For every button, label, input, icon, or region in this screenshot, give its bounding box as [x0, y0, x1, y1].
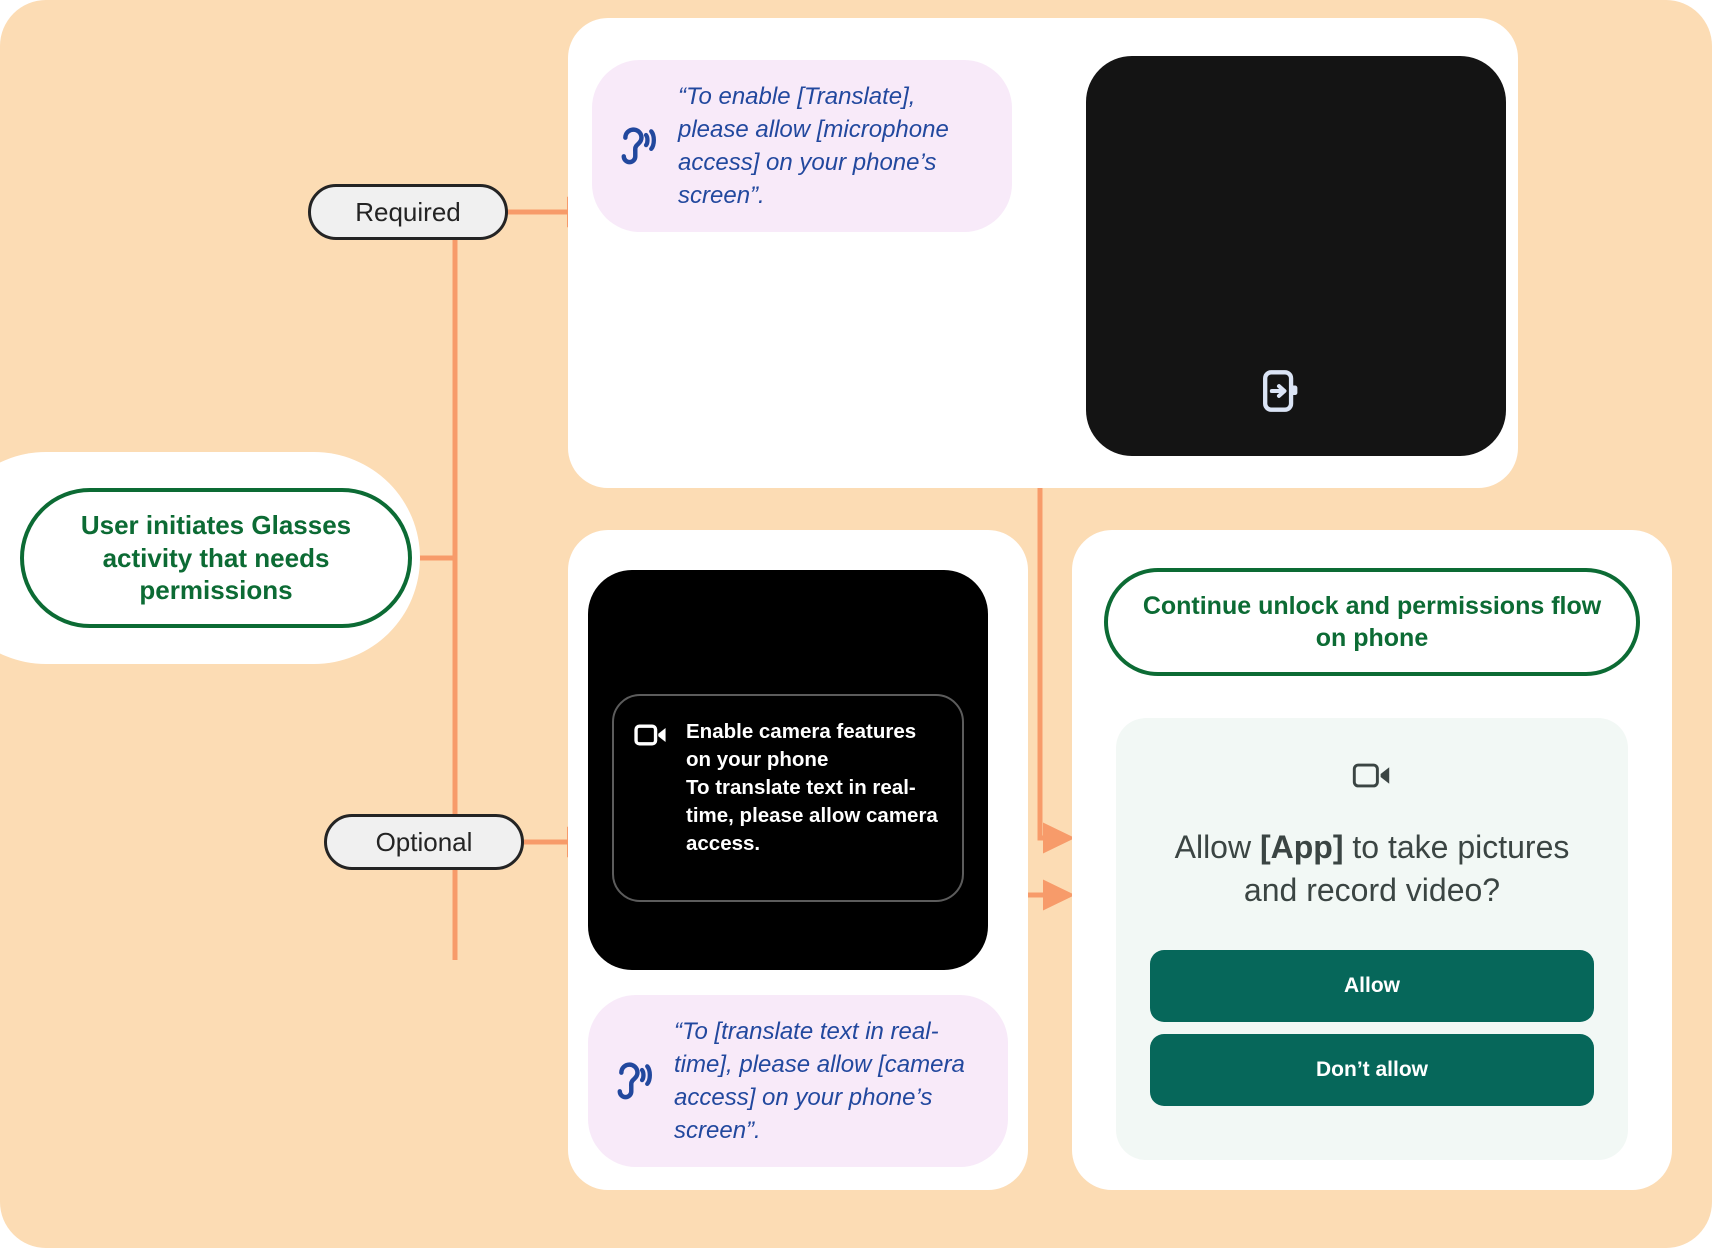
flow-diagram-canvas: User initiates Glasses activity that nee… — [0, 0, 1712, 1248]
glasses-permission-card: Enable camera features on your phone To … — [612, 694, 964, 902]
android-permission-dialog: Allow [App] to take pictures and record … — [1116, 718, 1628, 1160]
allow-button-label: Allow — [1344, 974, 1400, 998]
glasses-permission-subtitle: To translate text in real-time, please a… — [686, 774, 940, 858]
camera-prompt-text: “To [translate text in real-time], pleas… — [674, 1015, 1008, 1147]
camera-prompt-bubble: “To [translate text in real-time], pleas… — [588, 995, 1008, 1167]
ear-hearing-icon — [610, 120, 662, 172]
microphone-prompt-bubble: “To enable [Translate], please allow [mi… — [592, 60, 1012, 232]
ear-hearing-icon — [606, 1055, 658, 1107]
permission-dialog-title: Allow [App] to take pictures and record … — [1150, 826, 1594, 912]
branch-pill-required-label: Required — [355, 197, 461, 228]
branch-pill-optional-label: Optional — [376, 827, 473, 858]
continue-flow-node[interactable]: Continue unlock and permissions flow on … — [1104, 568, 1640, 676]
video-camera-icon — [634, 722, 668, 756]
continue-flow-node-label: Continue unlock and permissions flow on … — [1134, 590, 1610, 654]
start-node-label: User initiates Glasses activity that nee… — [50, 509, 382, 607]
dont-allow-button[interactable]: Don’t allow — [1150, 1034, 1594, 1106]
glasses-permission-title: Enable camera features on your phone — [686, 720, 916, 771]
start-node[interactable]: User initiates Glasses activity that nee… — [20, 488, 412, 628]
branch-pill-required[interactable]: Required — [308, 184, 508, 240]
branch-pill-optional[interactable]: Optional — [324, 814, 524, 870]
microphone-prompt-text: “To enable [Translate], please allow [mi… — [678, 80, 1012, 212]
glasses-permission-card-body: Enable camera features on your phone To … — [686, 718, 940, 878]
allow-button[interactable]: Allow — [1150, 950, 1594, 1022]
dialog-title-prefix: Allow — [1175, 829, 1260, 865]
unlock-phone-icon — [1258, 363, 1304, 419]
dont-allow-button-label: Don’t allow — [1316, 1058, 1428, 1082]
dialog-title-app: [App] — [1260, 829, 1344, 865]
video-camera-icon — [1352, 760, 1392, 800]
